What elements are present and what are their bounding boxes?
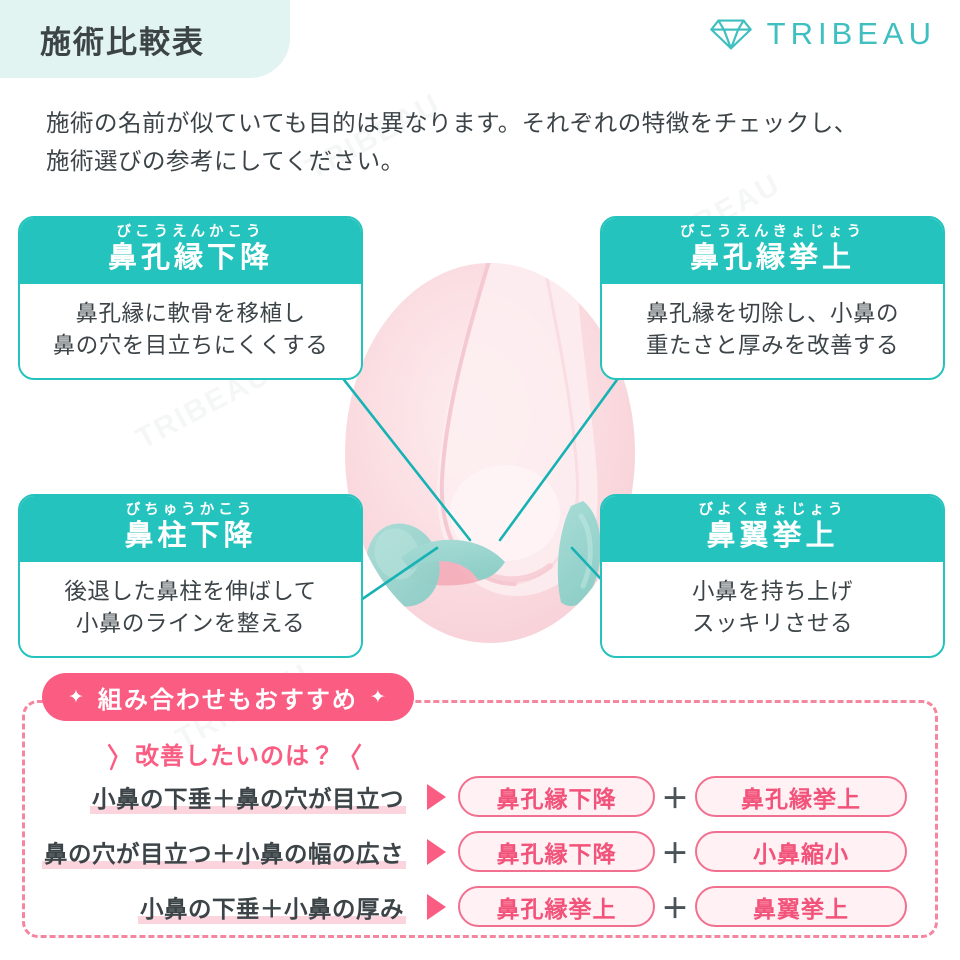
card-desc-line-2: 重たさと厚みを改善する (608, 330, 937, 362)
infographic-page: TRIBEAU TRIBEAU TRIBEAU TRIBEAU TRIBEAU (0, 0, 960, 960)
combination-badge-label: 組み合わせもおすすめ (98, 680, 358, 715)
combination-rows: 小鼻の下垂＋鼻の穴が目立つ 鼻孔縁下降 ＋ 鼻孔縁挙上 鼻の穴が目立つ＋小鼻の幅… (22, 770, 938, 935)
procedure-card-bichuu-kakou[interactable]: びちゅうかこう 鼻柱下降 後退した鼻柱を伸ばして 小鼻のラインを整える (18, 494, 363, 658)
card-header: びちゅうかこう 鼻柱下降 (20, 496, 361, 562)
card-description: 鼻孔縁に軟骨を移植し 鼻の穴を目立ちにくくする (20, 284, 361, 378)
combination-subtitle-text: 改善したいのは？ (135, 743, 335, 770)
card-desc-line-2: 鼻の穴を目立ちにくくする (26, 330, 355, 362)
row-arrow (414, 784, 458, 810)
condition-label: 鼻の穴が目立つ＋小鼻の幅の広さ (22, 835, 414, 869)
diamond-gem-icon (709, 17, 753, 51)
row-arrow (414, 894, 458, 920)
row-arrow (414, 839, 458, 865)
sparkle-icon-right: ✦ (370, 688, 388, 707)
result-pill-b[interactable]: 鼻翼挙上 (695, 886, 907, 927)
result-pill-a[interactable]: 鼻孔縁挙上 (458, 886, 655, 927)
plus-symbol: ＋ (655, 832, 695, 871)
card-ruby: びこうえんかこう (20, 225, 361, 241)
card-desc-line-1: 鼻孔縁に軟骨を移植し (26, 298, 355, 330)
brand-name: TRIBEAU (767, 16, 936, 52)
card-title: 鼻孔縁下降 (20, 242, 361, 275)
card-ruby: びちゅうかこう (20, 503, 361, 519)
condition-label: 小鼻の下垂＋小鼻の厚み (22, 890, 414, 924)
sparkle-icon-left: ✦ (68, 688, 86, 707)
procedure-card-bikouen-kyojou[interactable]: びこうえんきょじょう 鼻孔縁挙上 鼻孔縁を切除し、小鼻の 重たさと厚みを改善する (600, 216, 945, 380)
lead-line-1: 施術の名前が似ていても目的は異なります。それぞれの特徴をチェックし、 (46, 110, 858, 136)
card-desc-line-1: 後退した鼻柱を伸ばして (26, 576, 355, 608)
card-ruby: びよくきょじょう (602, 503, 943, 519)
card-ruby: びこうえんきょじょう (602, 225, 943, 241)
combination-subtitle: 〉改善したいのは？〈 (0, 736, 470, 771)
brand-logo: TRIBEAU (709, 16, 936, 52)
procedure-card-biyoku-kyojou[interactable]: びよくきょじょう 鼻翼挙上 小鼻を持ち上げ スッキリさせる (600, 494, 945, 658)
result-pill-a[interactable]: 鼻孔縁下降 (458, 831, 655, 872)
combination-row: 鼻の穴が目立つ＋小鼻の幅の広さ 鼻孔縁下降 ＋ 小鼻縮小 (22, 825, 938, 878)
card-desc-line-2: 小鼻のラインを整える (26, 608, 355, 640)
combination-badge: ✦ 組み合わせもおすすめ ✦ (42, 673, 414, 721)
combination-row: 小鼻の下垂＋小鼻の厚み 鼻孔縁挙上 ＋ 鼻翼挙上 (22, 880, 938, 933)
card-desc-line-1: 鼻孔縁を切除し、小鼻の (608, 298, 937, 330)
play-triangle-icon (427, 894, 446, 920)
card-header: びこうえんきょじょう 鼻孔縁挙上 (602, 218, 943, 284)
play-triangle-icon (427, 839, 446, 865)
card-title: 鼻柱下降 (20, 520, 361, 553)
condition-text: 小鼻の下垂＋鼻の穴が目立つ (90, 786, 406, 814)
card-title: 鼻孔縁挙上 (602, 242, 943, 275)
card-title: 鼻翼挙上 (602, 520, 943, 553)
page-title-chip: 施術比較表 (0, 0, 290, 78)
plus-symbol: ＋ (655, 887, 695, 926)
result-pill-b[interactable]: 鼻孔縁挙上 (695, 776, 907, 817)
lead-line-2: 施術選びの参考にしてください。 (46, 142, 926, 180)
condition-text: 鼻の穴が目立つ＋小鼻の幅の広さ (42, 841, 406, 869)
page-title: 施術比較表 (40, 17, 205, 62)
card-desc-line-1: 小鼻を持ち上げ (608, 576, 937, 608)
condition-text: 小鼻の下垂＋小鼻の厚み (138, 896, 406, 924)
lead-paragraph: 施術の名前が似ていても目的は異なります。それぞれの特徴をチェックし、 施術選びの… (46, 104, 926, 180)
card-description: 鼻孔縁を切除し、小鼻の 重たさと厚みを改善する (602, 284, 943, 378)
plus-symbol: ＋ (655, 777, 695, 816)
nose-illustration (345, 258, 635, 648)
card-header: びよくきょじょう 鼻翼挙上 (602, 496, 943, 562)
result-pill-b[interactable]: 小鼻縮小 (695, 831, 907, 872)
card-header: びこうえんかこう 鼻孔縁下降 (20, 218, 361, 284)
condition-label: 小鼻の下垂＋鼻の穴が目立つ (22, 780, 414, 814)
combination-row: 小鼻の下垂＋鼻の穴が目立つ 鼻孔縁下降 ＋ 鼻孔縁挙上 (22, 770, 938, 823)
card-desc-line-2: スッキリさせる (608, 608, 937, 640)
procedure-card-bikouen-kakou[interactable]: びこうえんかこう 鼻孔縁下降 鼻孔縁に軟骨を移植し 鼻の穴を目立ちにくくする (18, 216, 363, 380)
card-description: 後退した鼻柱を伸ばして 小鼻のラインを整える (20, 562, 361, 656)
result-pill-a[interactable]: 鼻孔縁下降 (458, 776, 655, 817)
play-triangle-icon (427, 784, 446, 810)
card-description: 小鼻を持ち上げ スッキリさせる (602, 562, 943, 656)
